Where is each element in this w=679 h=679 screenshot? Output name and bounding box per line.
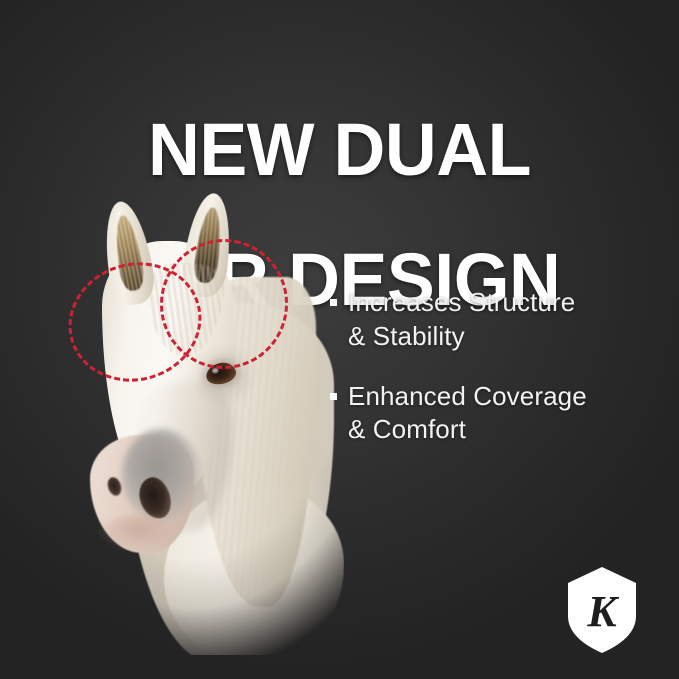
list-item: Enhanced Coverage & Comfort bbox=[330, 380, 650, 448]
square-bullet-icon bbox=[330, 393, 337, 400]
horse-lip-shading bbox=[98, 515, 174, 551]
headline-line-1: NEW DUAL bbox=[10, 117, 669, 182]
product-feature-ad: NEW DUAL EAR DESIGN bbox=[0, 0, 679, 679]
product-image bbox=[44, 185, 344, 655]
list-item: Increases Structure & Stability bbox=[330, 286, 650, 354]
feature-text: Enhanced Coverage & Comfort bbox=[348, 380, 587, 448]
feature-text: Increases Structure & Stability bbox=[348, 286, 575, 354]
feature-list: Increases Structure & Stability Enhanced… bbox=[330, 286, 650, 473]
brand-logo: K bbox=[566, 566, 638, 654]
shield-icon: K bbox=[566, 566, 638, 654]
brand-monogram: K bbox=[586, 587, 619, 636]
square-bullet-icon bbox=[330, 299, 337, 306]
